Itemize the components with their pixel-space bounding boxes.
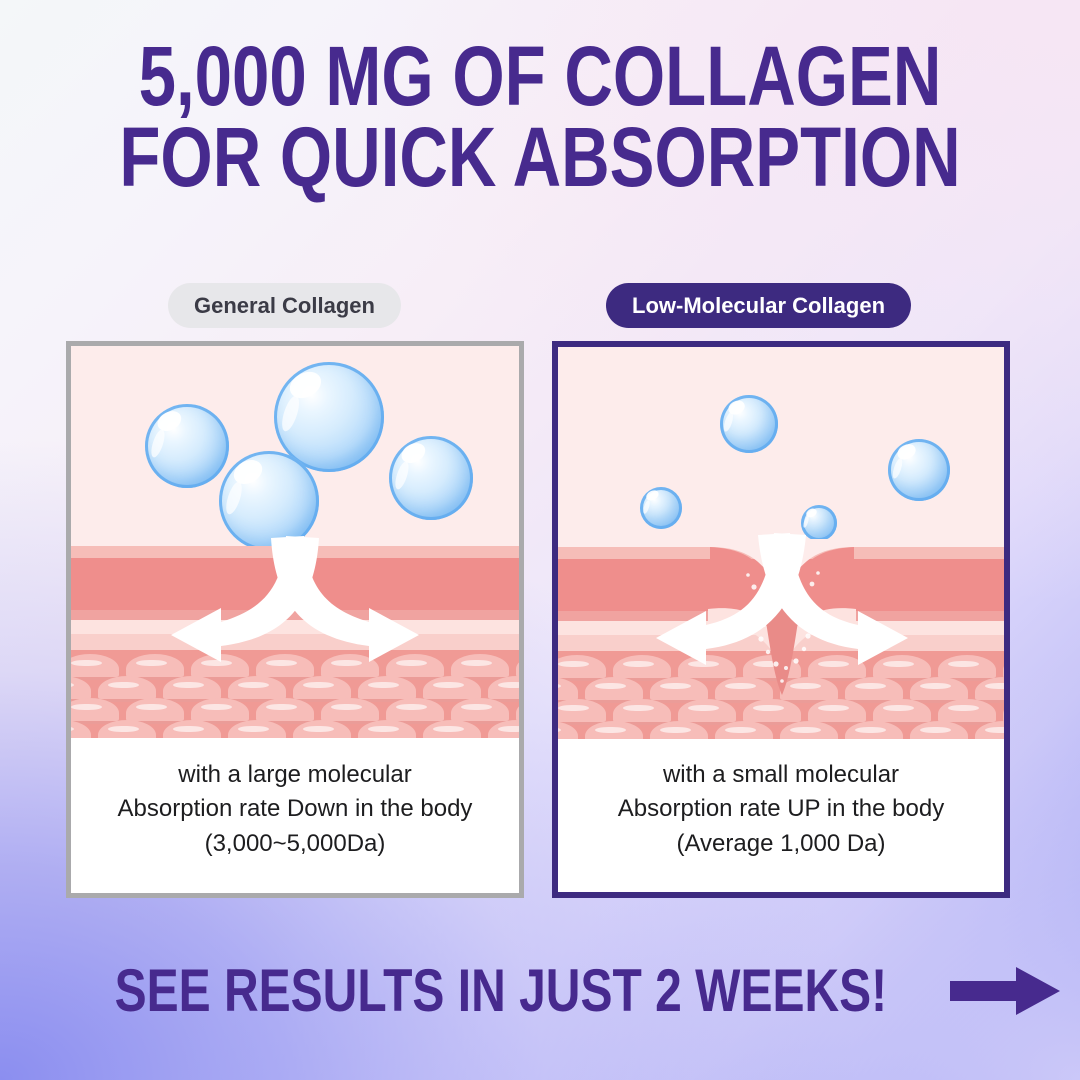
caption-low-molecular-collagen: with a small molecular Absorption rate U…	[558, 739, 1004, 892]
infographic-canvas: 5,000 MG OF COLLAGEN FOR QUICK ABSORPTIO…	[0, 0, 1080, 1080]
caption-line-3: (Average 1,000 Da)	[676, 827, 885, 861]
badge-low-molecular-collagen: Low-Molecular Collagen	[606, 283, 911, 328]
arrow-right-icon	[950, 965, 1062, 1017]
caption-line-2: Absorption rate UP in the body	[618, 792, 944, 826]
page-title: 5,000 MG OF COLLAGEN FOR QUICK ABSORPTIO…	[108, 36, 972, 199]
panel-low-molecular-collagen: with a small molecular Absorption rate U…	[552, 341, 1010, 898]
absorption-arrows	[558, 347, 1004, 739]
headline-line-1: 5,000 MG OF COLLAGEN	[108, 36, 972, 117]
call-to-action: SEE RESULTS IN JUST 2 WEEKS!	[0, 952, 1080, 1030]
panel-general-collagen: with a large molecular Absorption rate D…	[66, 341, 524, 898]
absorption-arrows	[71, 346, 519, 738]
caption-line-1: with a small molecular	[663, 758, 899, 792]
headline-line-2: FOR QUICK ABSORPTION	[108, 117, 972, 198]
caption-general-collagen: with a large molecular Absorption rate D…	[71, 738, 519, 893]
scene-low-molecular-collagen	[558, 347, 1004, 739]
caption-line-3: (3,000~5,000Da)	[205, 827, 386, 861]
caption-line-2: Absorption rate Down in the body	[118, 792, 473, 826]
caption-line-1: with a large molecular	[178, 758, 411, 792]
cta-label: SEE RESULTS IN JUST 2 WEEKS!	[115, 961, 888, 1021]
badge-general-collagen: General Collagen	[168, 283, 401, 328]
scene-general-collagen	[71, 346, 519, 738]
